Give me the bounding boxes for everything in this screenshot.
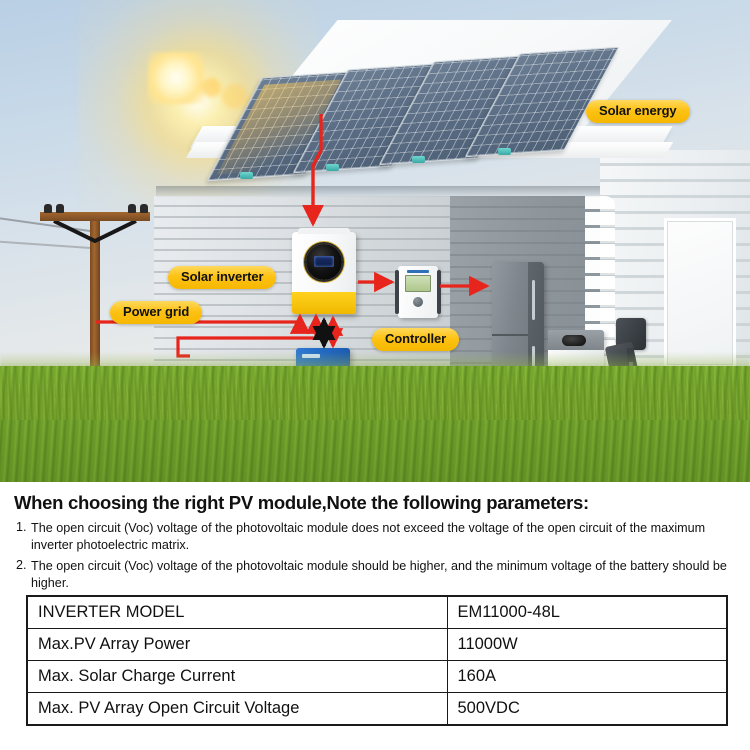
table-row: Max. Solar Charge Current 160A bbox=[27, 661, 727, 693]
table-row: Max.PV Array Power 11000W bbox=[27, 629, 727, 661]
note-text: The open circuit (Voc) voltage of the ph… bbox=[31, 520, 738, 554]
notes-list: 1. The open circuit (Voc) voltage of the… bbox=[16, 520, 738, 596]
spec-value: EM11000-48L bbox=[447, 596, 727, 629]
house-window bbox=[664, 218, 736, 368]
table-row: INVERTER MODEL EM11000-48L bbox=[27, 596, 727, 629]
note-text: The open circuit (Voc) voltage of the ph… bbox=[31, 558, 738, 592]
product-infographic-page: Solar energy Solar inverter Power grid C… bbox=[0, 0, 750, 750]
note-item: 2. The open circuit (Voc) voltage of the… bbox=[16, 558, 738, 592]
panel-mount-foot bbox=[498, 148, 511, 155]
pole-insulator bbox=[56, 204, 64, 213]
inverter-top-cap bbox=[298, 228, 350, 234]
eave-shadow bbox=[156, 186, 600, 198]
panel-mount-foot bbox=[240, 172, 253, 179]
pole-insulator bbox=[128, 204, 136, 213]
note-number: 1. bbox=[16, 520, 31, 554]
table-row: Max. PV Array Open Circuit Voltage 500VD… bbox=[27, 693, 727, 726]
solar-inverter-device bbox=[292, 232, 356, 314]
note-number: 2. bbox=[16, 558, 31, 592]
charge-controller-device bbox=[398, 266, 438, 318]
inverter-display bbox=[306, 244, 342, 280]
panel-mount-foot bbox=[326, 164, 339, 171]
specifications-table: INVERTER MODEL EM11000-48L Max.PV Array … bbox=[26, 595, 728, 726]
spec-label: Max. Solar Charge Current bbox=[27, 661, 447, 693]
spec-label: Max. PV Array Open Circuit Voltage bbox=[27, 693, 447, 726]
pole-brace bbox=[52, 221, 138, 243]
pole-insulator bbox=[140, 204, 148, 213]
label-controller[interactable]: Controller bbox=[372, 328, 459, 351]
note-item: 1. The open circuit (Voc) voltage of the… bbox=[16, 520, 738, 554]
controller-brand-mark bbox=[407, 270, 429, 273]
solar-system-illustration: Solar energy Solar inverter Power grid C… bbox=[0, 0, 750, 482]
section-heading: When choosing the right PV module,Note t… bbox=[14, 492, 738, 514]
sun-icon bbox=[148, 52, 204, 104]
utility-pole-crossarm bbox=[40, 212, 150, 221]
controller-display bbox=[405, 275, 431, 292]
pole-insulator bbox=[44, 204, 52, 213]
inverter-lcd bbox=[314, 256, 334, 267]
grass-blades bbox=[0, 362, 750, 420]
inverter-yellow-panel bbox=[292, 292, 356, 314]
lens-flare-icon bbox=[202, 78, 221, 97]
label-solar-energy[interactable]: Solar energy bbox=[586, 100, 690, 123]
fridge-handle bbox=[532, 280, 535, 320]
spec-value: 160A bbox=[447, 661, 727, 693]
spec-label: Max.PV Array Power bbox=[27, 629, 447, 661]
panel-mount-foot bbox=[412, 156, 425, 163]
spec-label: INVERTER MODEL bbox=[27, 596, 447, 629]
label-solar-inverter[interactable]: Solar inverter bbox=[168, 266, 276, 289]
label-power-grid[interactable]: Power grid bbox=[110, 301, 202, 324]
spec-value: 500VDC bbox=[447, 693, 727, 726]
spec-value: 11000W bbox=[447, 629, 727, 661]
controller-side-rail bbox=[395, 270, 399, 314]
controller-side-rail bbox=[437, 270, 441, 314]
washer-door bbox=[562, 335, 586, 346]
controller-knob bbox=[413, 297, 423, 307]
solar-panel-array bbox=[236, 48, 566, 158]
specifications-section: When choosing the right PV module,Note t… bbox=[0, 482, 750, 750]
